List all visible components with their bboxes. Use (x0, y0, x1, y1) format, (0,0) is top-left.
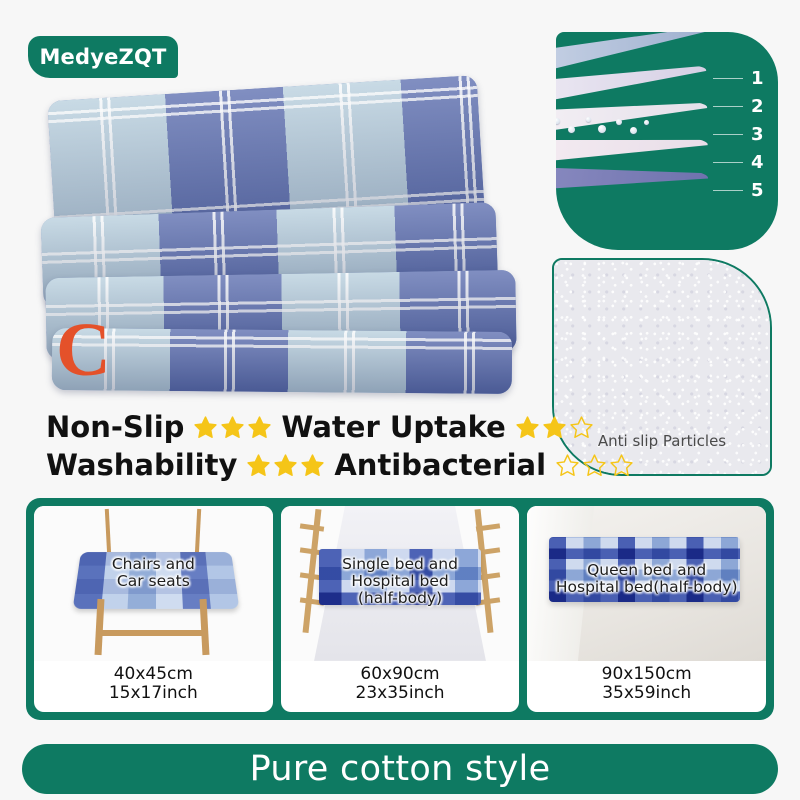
queen-bed-photo: Queen bed and Hospital bed(half-body) (527, 506, 766, 661)
callout-line-icon (713, 190, 743, 192)
star-outline-icon (555, 453, 580, 478)
size-inch: 23x35inch (281, 684, 520, 704)
layer-callout-1: 1 (713, 68, 764, 89)
rating-stars-washability (246, 453, 325, 478)
caption-line: Queen bed and (533, 562, 760, 579)
size-cm: 60x90cm (281, 665, 520, 685)
caption-line: Chairs and (40, 556, 267, 573)
chair-leg (95, 599, 105, 655)
callout-line-icon (713, 134, 743, 136)
variant-letter: C (56, 312, 111, 388)
star-outline-icon (569, 415, 594, 440)
use-case-size-single-bed: 60x90cm 23x35inch (281, 661, 520, 712)
rating-stars-antibacterial (555, 453, 634, 478)
anti-slip-particles-panel: Anti slip Particles (552, 258, 772, 476)
star-outline-icon (609, 453, 634, 478)
rating-stars-non-slip (193, 415, 272, 440)
layer-callout-3: 3 (713, 124, 764, 145)
layer-structure-panel: 1 2 3 4 5 (556, 32, 778, 250)
layer-callout-4: 4 (713, 152, 764, 173)
chair-backrest-icon (195, 509, 201, 556)
feature-row-bottom: Washability Antibacterial (46, 446, 566, 484)
use-case-cards: Chairs and Car seats 40x45cm 15x17inch (26, 498, 774, 720)
star-filled-icon (247, 415, 272, 440)
single-bed-photo: Single bed and Hospital bed (half-body) (281, 506, 520, 661)
layer-number-labels: 1 2 3 4 5 (682, 32, 778, 250)
use-case-caption-single-bed: Single bed and Hospital bed (half-body) (281, 556, 520, 608)
callout-line-icon (713, 106, 743, 108)
feature-label-water-uptake: Water Uptake (281, 410, 505, 444)
use-case-card-single-bed[interactable]: Single bed and Hospital bed (half-body) … (281, 506, 520, 712)
brand-logo: MedyeZQT (28, 36, 178, 78)
caption-line: Hospital bed (287, 573, 514, 590)
caption-line: (half-body) (287, 590, 514, 607)
caption-line: Single bed and (287, 556, 514, 573)
star-filled-icon (220, 415, 245, 440)
star-outline-icon (582, 453, 607, 478)
chair-rail (96, 630, 208, 636)
feature-label-antibacterial: Antibacterial (334, 448, 546, 482)
star-filled-icon (193, 415, 218, 440)
chair-photo: Chairs and Car seats (34, 506, 273, 661)
size-inch: 15x17inch (34, 684, 273, 704)
star-filled-icon (246, 453, 271, 478)
bottom-banner-text: Pure cotton style (250, 749, 551, 789)
bottom-banner: Pure cotton style (22, 744, 778, 794)
folded-blanket-layer (52, 328, 513, 394)
rating-stars-water-uptake (515, 415, 594, 440)
use-case-card-queen-bed[interactable]: Queen bed and Hospital bed(half-body) 90… (527, 506, 766, 712)
feature-ratings: Non-Slip Water Uptake Washability Antiba… (46, 408, 566, 484)
chair-backrest-icon (104, 509, 110, 556)
star-filled-icon (273, 453, 298, 478)
brand-logo-text: MedyeZQT (39, 45, 166, 69)
water-droplets-icon (556, 114, 652, 140)
size-cm: 40x45cm (34, 665, 273, 685)
feature-row-top: Non-Slip Water Uptake (46, 408, 566, 446)
bed-rung (300, 523, 324, 531)
use-case-caption-chairs: Chairs and Car seats (34, 556, 273, 591)
star-filled-icon (515, 415, 540, 440)
feature-label-washability: Washability (46, 448, 237, 482)
use-case-size-queen-bed: 90x150cm 35x59inch (527, 661, 766, 712)
size-cm: 90x150cm (527, 665, 766, 685)
caption-line: Car seats (40, 573, 267, 590)
use-case-card-chairs[interactable]: Chairs and Car seats 40x45cm 15x17inch (34, 506, 273, 712)
star-filled-icon (300, 453, 325, 478)
layer-callout-5: 5 (713, 180, 764, 201)
callout-line-icon (713, 78, 743, 80)
callout-line-icon (713, 162, 743, 164)
product-infographic: MedyeZQT C 1 2 (0, 0, 800, 800)
size-inch: 35x59inch (527, 684, 766, 704)
caption-line: Hospital bed(half-body) (533, 579, 760, 596)
layer-callout-2: 2 (713, 96, 764, 117)
feature-label-non-slip: Non-Slip (46, 410, 184, 444)
star-filled-icon (542, 415, 567, 440)
use-case-size-chairs: 40x45cm 15x17inch (34, 661, 273, 712)
use-case-caption-queen-bed: Queen bed and Hospital bed(half-body) (527, 562, 766, 597)
